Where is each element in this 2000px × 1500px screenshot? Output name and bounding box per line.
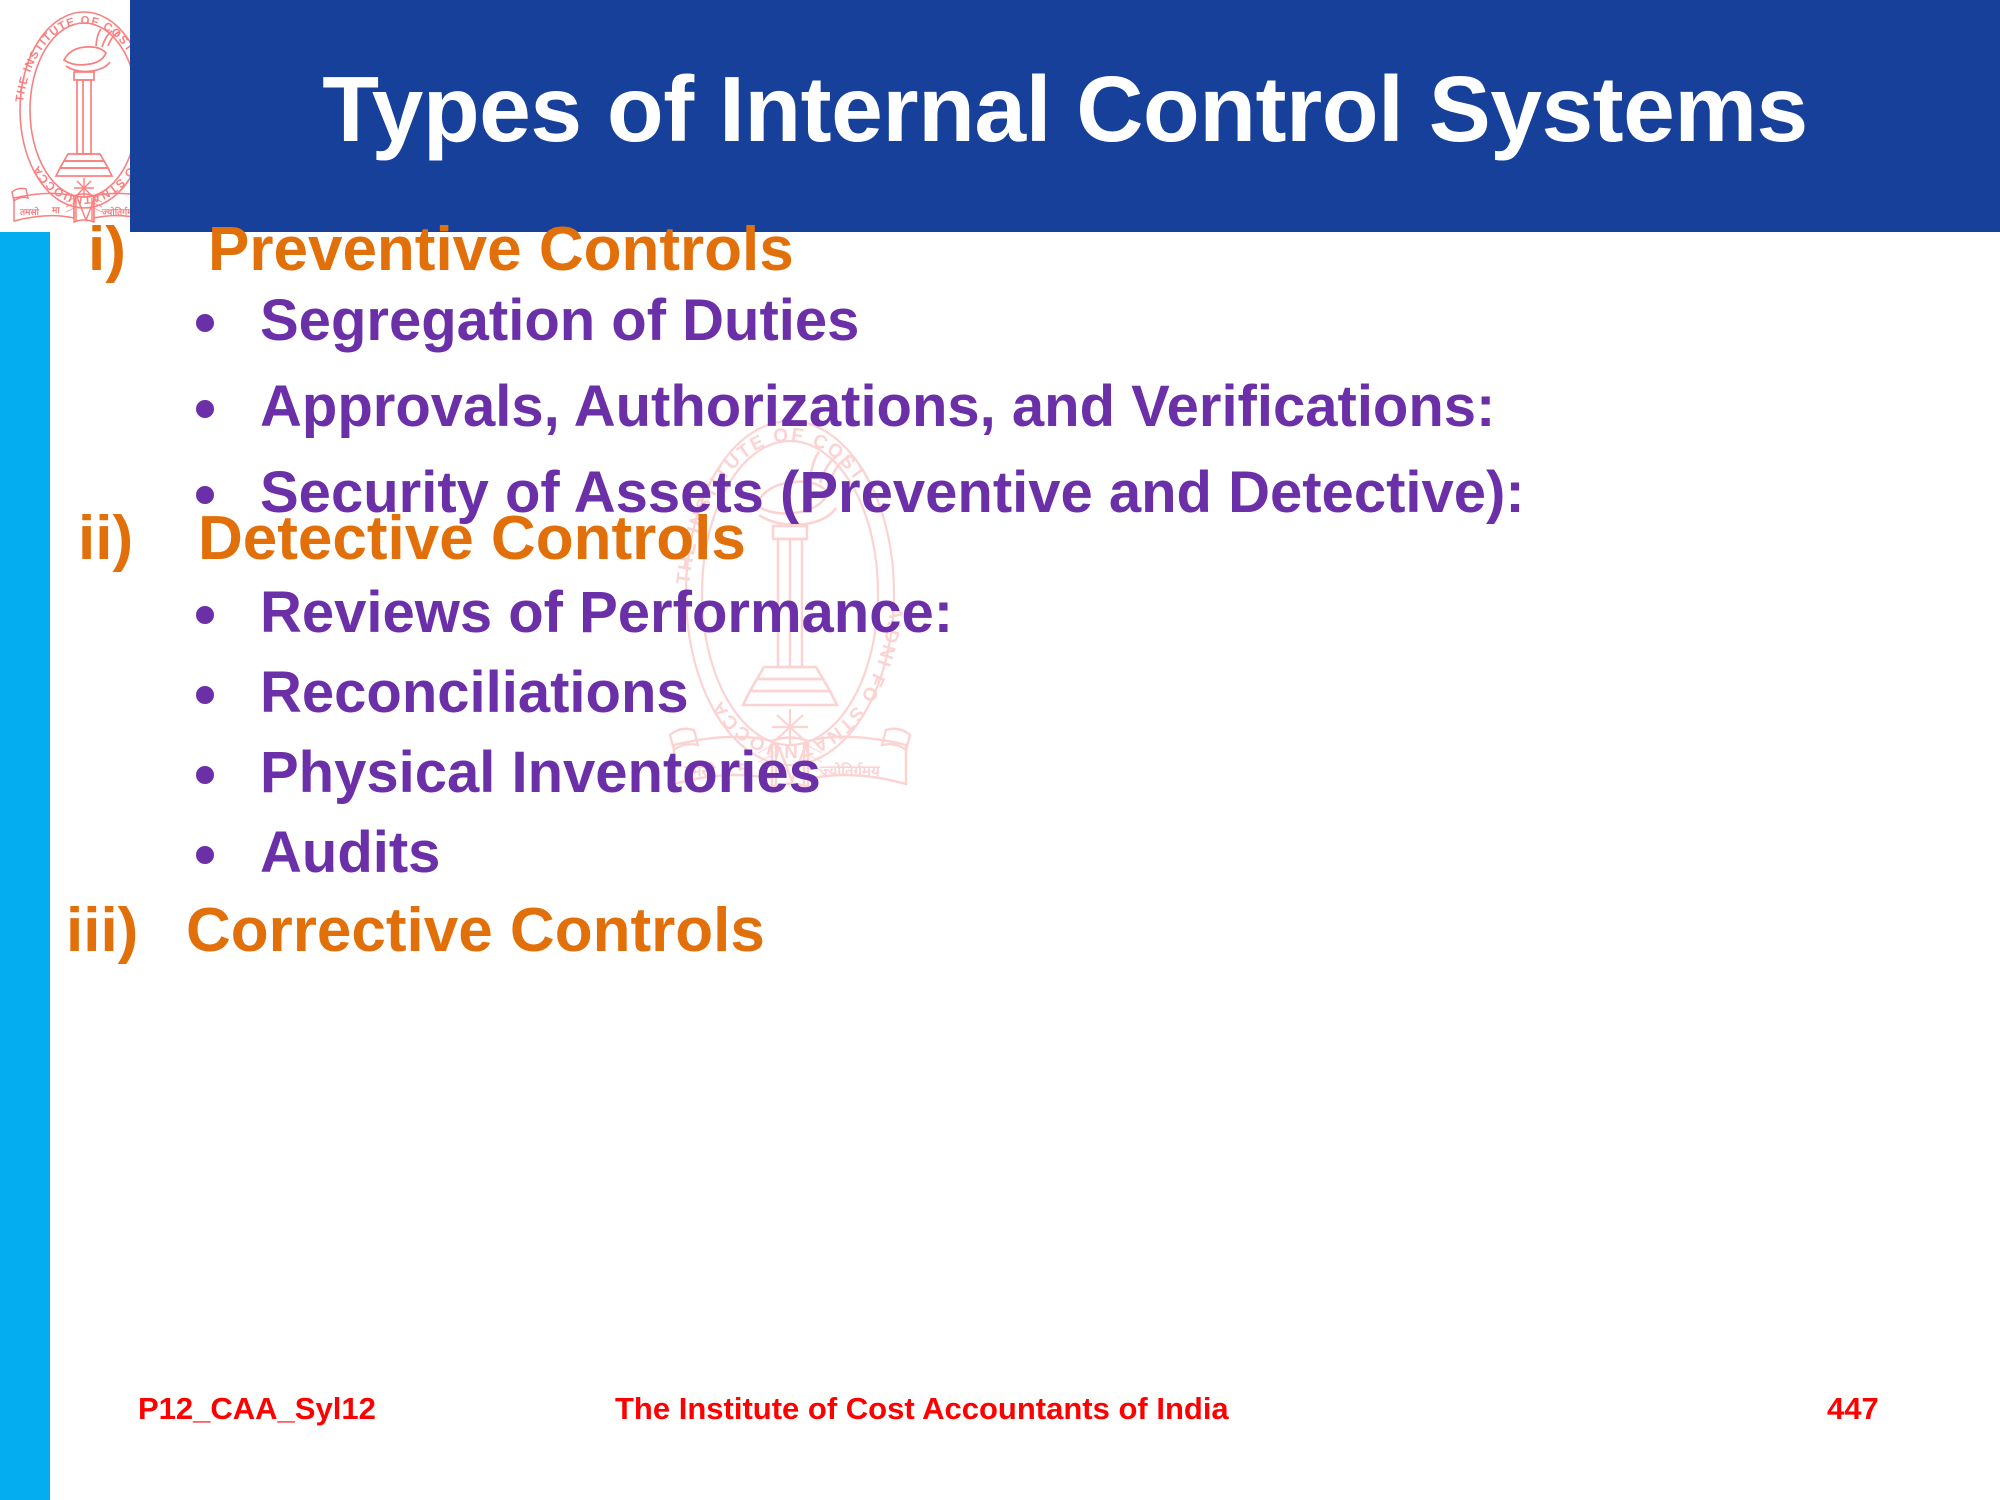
bullet-segregation-of-duties: Segregation of Duties <box>196 292 859 350</box>
slide-title-bar: Types of Internal Control Systems <box>130 0 2000 232</box>
bullet-audits: Audits <box>196 824 440 882</box>
bullet-dot-icon <box>196 486 214 504</box>
section-number-iii: iii) <box>66 900 186 962</box>
bullet-label: Reviews of Performance: <box>260 584 953 642</box>
bullet-label: Audits <box>260 824 440 882</box>
bullet-reviews-of-performance: Reviews of Performance: <box>196 584 953 642</box>
slide-footer: P12_CAA_Syl12 The Institute of Cost Acco… <box>0 1388 2000 1438</box>
section-heading-detective-controls: ii) Detective Controls <box>78 508 746 570</box>
bullet-dot-icon <box>196 686 214 704</box>
section-label-iii: Corrective Controls <box>186 900 765 962</box>
page-title: Types of Internal Control Systems <box>322 63 1808 156</box>
footer-organization: The Institute of Cost Accountants of Ind… <box>615 1393 1229 1424</box>
footer-course-code: P12_CAA_Syl12 <box>138 1393 376 1424</box>
bullet-label: Physical Inventories <box>260 744 821 802</box>
bullet-label: Reconciliations <box>260 664 689 722</box>
svg-text:तमसो: तमसो <box>19 206 40 217</box>
bullet-physical-inventories: Physical Inventories <box>196 744 821 802</box>
slide-body: i) Preventive Controls Segregation of Du… <box>0 232 2000 1382</box>
svg-text:THE INSTITUTE OF COST: THE INSTITUTE OF COST <box>14 15 136 103</box>
section-number-ii: ii) <box>78 508 198 570</box>
section-label-i: Preventive Controls <box>208 219 794 281</box>
bullet-label: Segregation of Duties <box>260 292 859 350</box>
svg-text:मा: मा <box>51 205 60 215</box>
bullet-dot-icon <box>196 846 214 864</box>
section-number-i: i) <box>88 219 208 281</box>
footer-page-number: 447 <box>1827 1393 1879 1424</box>
bullet-dot-icon <box>196 766 214 784</box>
bullet-dot-icon <box>196 314 214 332</box>
bullet-reconciliations: Reconciliations <box>196 664 689 722</box>
bullet-label: Approvals, Authorizations, and Verificat… <box>260 378 1495 436</box>
slide-canvas: THE INSTITUTE OF COST AIDNI FO STNATNUOC… <box>0 0 2000 1500</box>
section-heading-corrective-controls: iii) Corrective Controls <box>66 900 765 962</box>
section-label-ii: Detective Controls <box>198 508 746 570</box>
bullet-dot-icon <box>196 606 214 624</box>
section-heading-preventive-controls: i) Preventive Controls <box>88 219 794 281</box>
bullet-approvals-authorizations-verifications: Approvals, Authorizations, and Verificat… <box>196 378 1495 436</box>
bullet-dot-icon <box>196 400 214 418</box>
